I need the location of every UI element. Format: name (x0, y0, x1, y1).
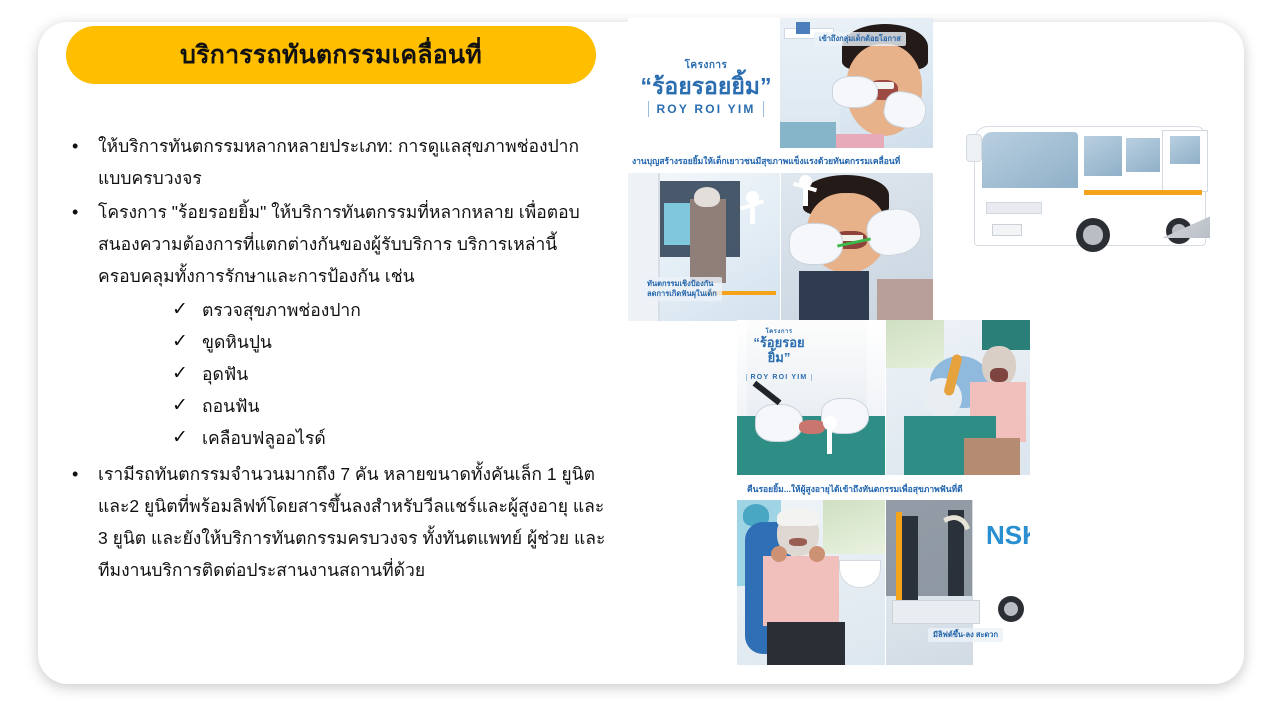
checklist-item-label: เคลือบฟลูออไรด์ (202, 422, 326, 454)
lift-stripe-yellow (896, 512, 902, 608)
list-item: ✓ ตรวจสุขภาพช่องปาก (66, 294, 606, 326)
staff-scrub (664, 203, 692, 245)
dentist-head-back (922, 378, 962, 418)
photo-boarding-bus: ทันตกรรมเชิงป้องกัน ลดการเกิดฟันผุในเด็ก (628, 173, 780, 321)
logo-line-2: “ร้อยรอยยิ้ม” (636, 73, 776, 99)
logo-line-3: ROY ROI YIM (746, 374, 813, 381)
page-title: บริการรถทันตกรรมเคลื่อนที่ (180, 43, 482, 68)
logo-line-1: โครงการ (636, 58, 776, 73)
elderly-hair (777, 508, 819, 526)
stick-figure-body-3 (827, 430, 832, 454)
gloved-hand-left (789, 223, 843, 265)
bullet-text: ให้บริการทันตกรรมหลากหลายประเภท: การดูแล… (98, 130, 606, 194)
photo-wheelchair-lift: NSKO มีลิฟต์ขึ้น-ลง สะดวก (886, 500, 1030, 665)
slide-root: บริการรถทันตกรรมเคลื่อนที่ • ให้บริการทั… (0, 0, 1280, 720)
checklist-list: ✓ ตรวจสุขภาพช่องปาก ✓ ขูดหินปูน ✓ อุดฟัน… (66, 294, 606, 454)
checklist-item-label: ขูดหินปูน (202, 326, 272, 358)
photo-block-lift: NSKO มีลิฟต์ขึ้น-ลง สะดวก (737, 500, 1030, 665)
hand-heart-right (809, 546, 825, 562)
bus-orange-stripe (1084, 190, 1202, 195)
bullet-marker: • (66, 458, 98, 490)
bullet-marker: • (66, 196, 98, 228)
list-item: • เรามีรถทันตกรรมจำนวนมากถึง 7 คัน หลายข… (66, 458, 606, 586)
check-icon: ✓ (66, 358, 202, 390)
photo-child-treatment (781, 173, 933, 321)
photo-block-children: โครงการ “ร้อยรอยยิ้ม” ROY ROI YIM เข้าถึ… (628, 18, 933, 170)
block1-caption: งานบุญสร้างรอยยิ้มให้เด็กเยาวชนมีสุขภาพแ… (632, 156, 900, 167)
elderly-arm (964, 438, 1020, 475)
bus-windshield (982, 132, 1078, 188)
check-icon: ✓ (66, 390, 202, 422)
child-shirt (836, 134, 884, 148)
list-item: • ให้บริการทันตกรรมหลากหลายประเภท: การดู… (66, 130, 606, 194)
blue-box-shape (796, 22, 810, 34)
bus-door-window (1170, 136, 1200, 164)
bus-wheel-front (1076, 218, 1110, 252)
list-item: ✓ เคลือบฟลูออไรด์ (66, 422, 606, 454)
roy-roi-yim-logo: โครงการ “ร้อยรอยยิ้ม” ROY ROI YIM (636, 58, 776, 118)
check-icon: ✓ (66, 422, 202, 454)
bus-side-window-2 (1126, 138, 1160, 172)
checklist-item-label: ถอนฟัน (202, 390, 259, 422)
slide-title-pill: บริการรถทันตกรรมเคลื่อนที่ (66, 26, 596, 84)
stick-figure-head-3 (823, 416, 837, 430)
list-item: ✓ ถอนฟัน (66, 390, 606, 422)
caption-line-1: ทันตกรรมเชิงป้องกัน (647, 279, 717, 289)
list-item: ✓ อุดฟัน (66, 358, 606, 390)
photo-block-prevention: ทันตกรรมเชิงป้องกัน ลดการเกิดฟันผุในเด็ก (628, 173, 933, 321)
patient-head (694, 187, 720, 207)
photo-collage: โครงการ “ร้อยรอยยิ้ม” ROY ROI YIM เข้าถึ… (620, 18, 1230, 666)
blanket-shape (877, 279, 933, 321)
check-icon: ✓ (66, 294, 202, 326)
photo-dentist-working: โครงการ “ร้อยรอยยิ้ม” ROY ROI YIM (737, 320, 885, 475)
block3-caption: คืนรอยยิ้ม...ให้ผู้สูงอายุได้เข้าถึงทันต… (747, 484, 963, 495)
hand-heart-left (771, 546, 787, 562)
photo-caption-badge: ทันตกรรมเชิงป้องกัน ลดการเกิดฟันผุในเด็ก (642, 277, 722, 301)
checklist-item-label: อุดฟัน (202, 358, 248, 390)
towel-stack (982, 320, 1030, 350)
content-column: • ให้บริการทันตกรรมหลากหลายประเภท: การดู… (66, 130, 606, 588)
bus-brand-text: NSKO (986, 520, 1030, 550)
elderly-trousers (767, 622, 845, 665)
photo-smiling-elderly (737, 500, 885, 665)
bus-side-window-1 (1084, 136, 1122, 176)
window-view (823, 500, 885, 554)
elderly-shirt (763, 556, 839, 626)
photo-caption-badge: มีลิฟต์ขึ้น-ลง สะดวก (928, 628, 1003, 642)
elderly-smile (789, 538, 807, 546)
bullet-text: เรามีรถทันตกรรมจำนวนมากถึง 7 คัน หลายขนา… (98, 458, 606, 586)
patient-mouth (799, 420, 825, 434)
bullet-text: โครงการ "ร้อยรอยยิ้ม" ให้บริการทันตกรรมท… (98, 196, 606, 292)
gloved-hand-left (755, 404, 803, 442)
elderly-open-mouth (990, 368, 1008, 382)
photo-block-elderly: โครงการ “ร้อยรอยยิ้ม” ROY ROI YIM คืนรอย (737, 320, 1030, 500)
roy-roi-yim-logo-small: โครงการ “ร้อยรอยยิ้ม” ROY ROI YIM (743, 326, 815, 384)
photo-elderly-patient-chair (886, 320, 1030, 475)
dental-sink (839, 560, 881, 588)
bullet-list: • ให้บริการทันตกรรมหลากหลายประเภท: การดู… (66, 130, 606, 586)
bus-grille (986, 202, 1042, 214)
logo-line-2: “ร้อยรอยยิ้ม” (743, 336, 815, 366)
caption-line-2: ลดการเกิดฟันผุในเด็ก (647, 289, 717, 299)
list-item: • โครงการ "ร้อยรอยยิ้ม" ให้บริการทันตกรร… (66, 196, 606, 292)
bullet-marker: • (66, 130, 98, 162)
list-item: ✓ ขูดหินปูน (66, 326, 606, 358)
check-icon: ✓ (66, 326, 202, 358)
lift-rail-left (902, 516, 918, 606)
bus-wheel (998, 596, 1024, 622)
photo-child-dental-exam: เข้าถึงกลุ่มเด็กด้อยโอกาส (780, 18, 933, 148)
bus-license-plate (992, 224, 1022, 236)
checklist-item-label: ตรวจสุขภาพช่องปาก (202, 294, 361, 326)
lift-platform (892, 600, 980, 624)
child-shirt (799, 271, 869, 321)
photo-caption-badge: เข้าถึงกลุ่มเด็กด้อยโอกาส (814, 32, 906, 46)
scrub-shape (780, 122, 836, 148)
patient-figure (690, 199, 726, 283)
bus-brand-logo: NSKO (986, 520, 1014, 554)
bus-mirror (966, 134, 982, 162)
stick-figure-body-2 (803, 188, 808, 206)
checklist: ✓ ตรวจสุขภาพช่องปาก ✓ ขูดหินปูน ✓ อุดฟัน… (66, 294, 606, 454)
logo-line-3: ROY ROI YIM (648, 101, 763, 117)
gloved-hand-left (832, 76, 878, 108)
photo-mobile-dental-bus (950, 106, 1228, 291)
window-view (886, 320, 944, 368)
